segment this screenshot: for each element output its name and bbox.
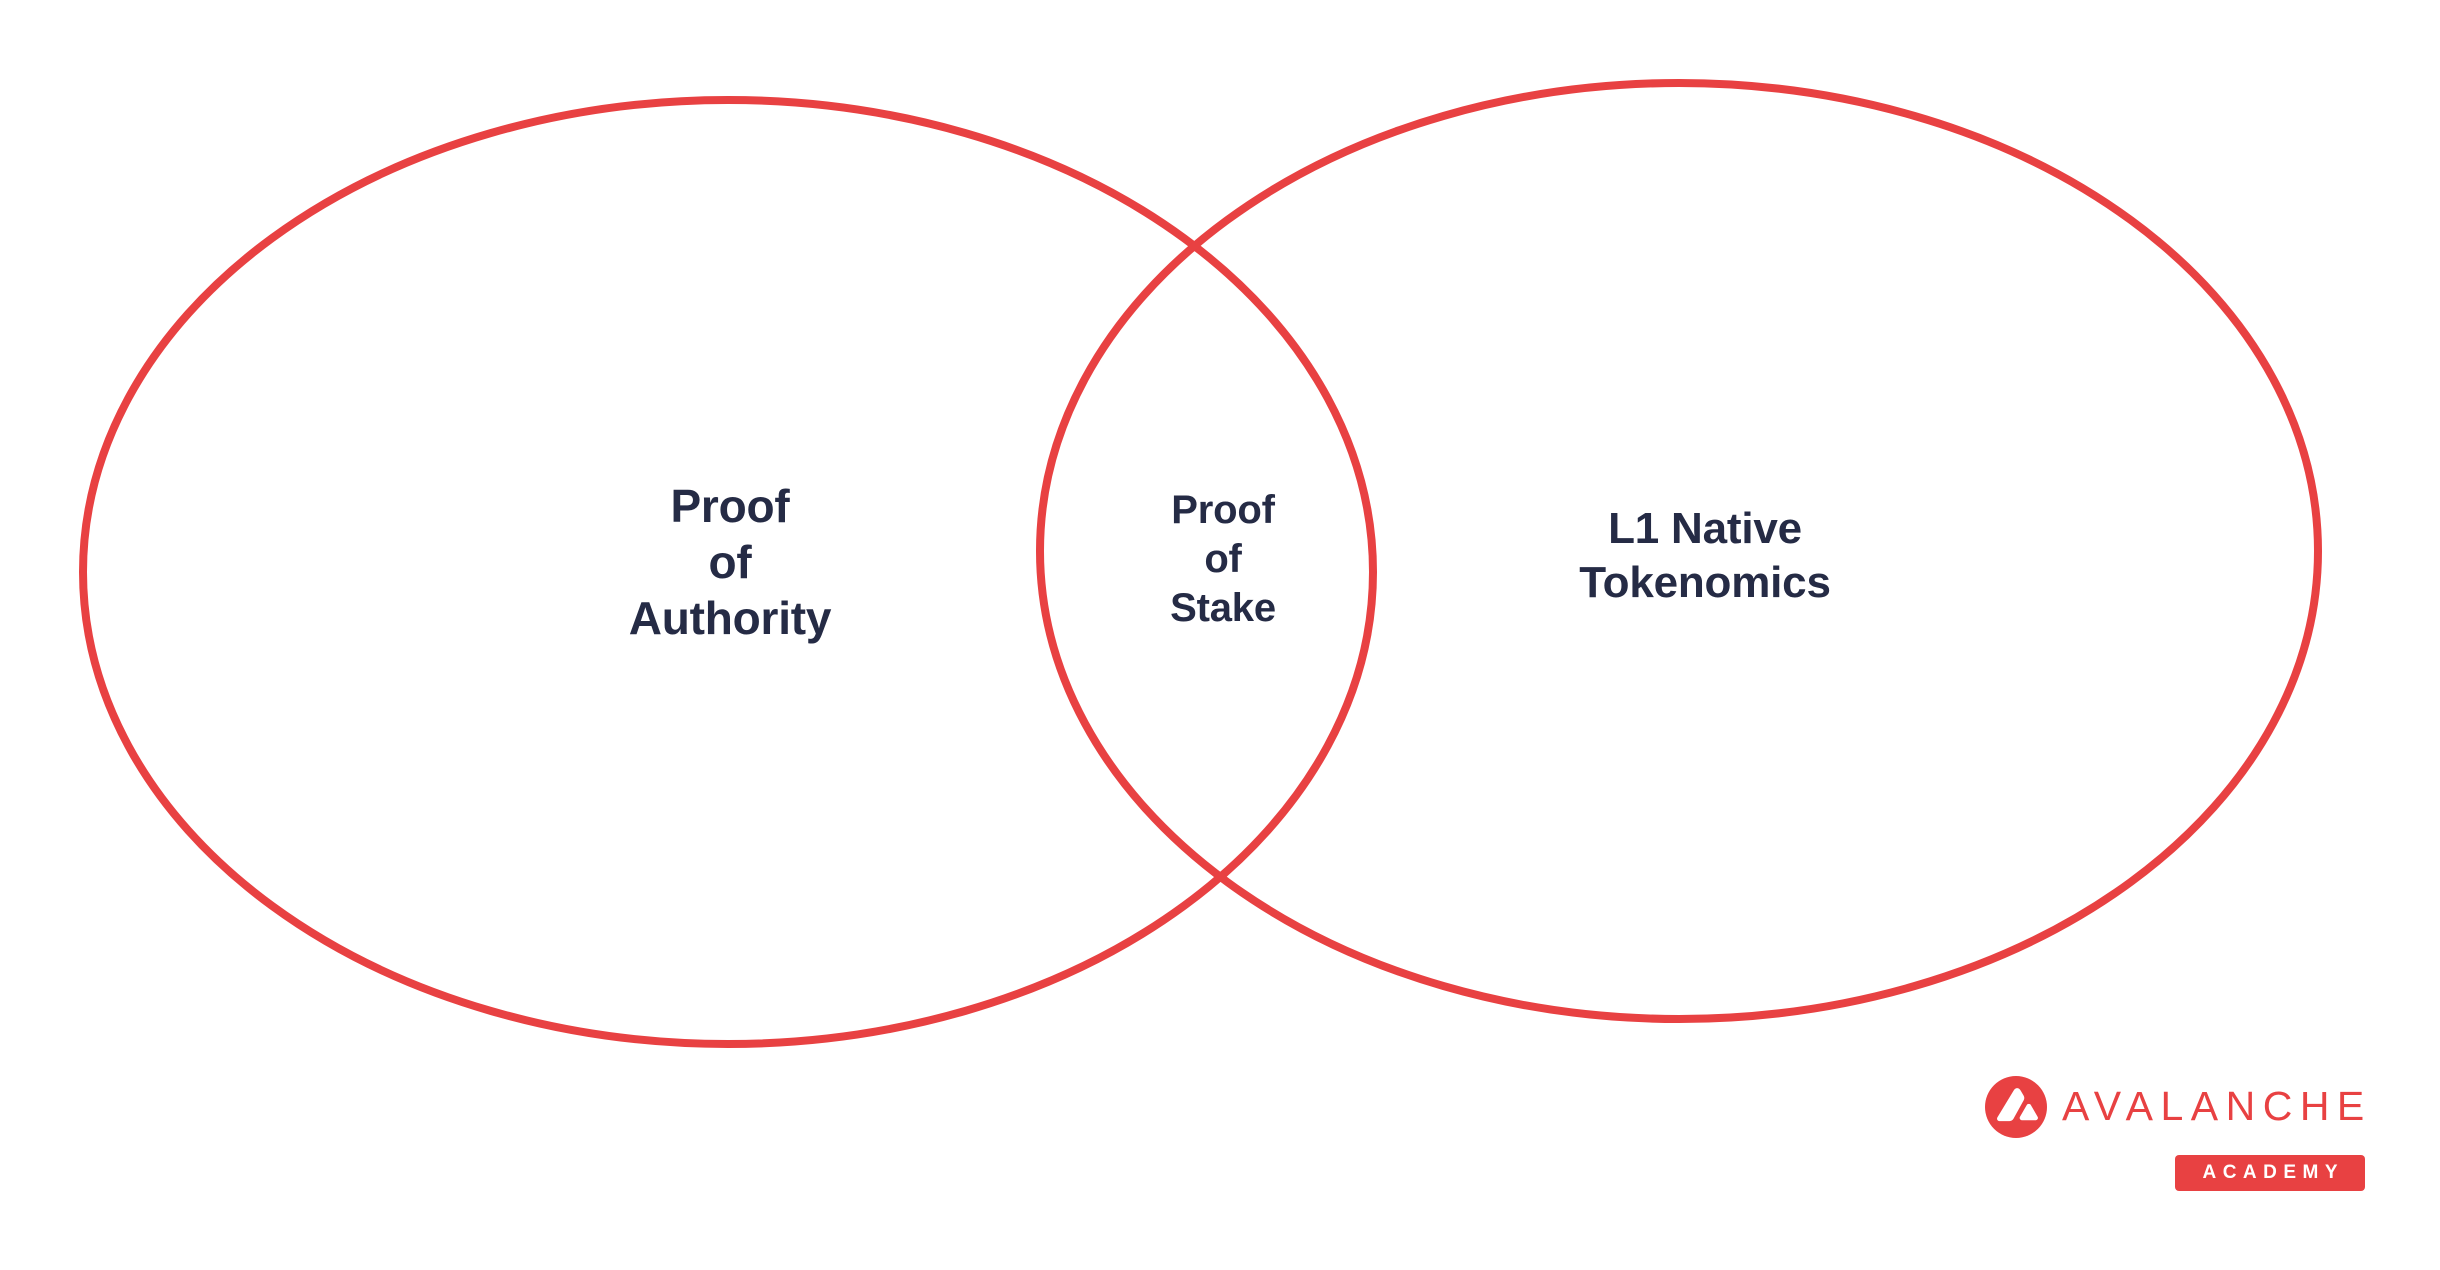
venn-label-proof-of-authority: Proof of Authority: [505, 478, 955, 646]
venn-label-proof-of-stake: Proof of Stake: [1083, 486, 1363, 632]
academy-badge: ACADEMY: [2175, 1155, 2365, 1191]
avalanche-wordmark: AVALANCHE: [2062, 1086, 2372, 1127]
avalanche-logo-mark-icon: [1985, 1076, 2047, 1138]
academy-badge-label: ACADEMY: [2175, 1155, 2365, 1191]
venn-diagram-canvas: Proof of Authority Proof of Stake L1 Nat…: [0, 0, 2440, 1270]
venn-label-l1-native-tokenomics: L1 Native Tokenomics: [1455, 502, 1955, 609]
avalanche-academy-logo: AVALANCHE ACADEMY: [1985, 1070, 2375, 1198]
